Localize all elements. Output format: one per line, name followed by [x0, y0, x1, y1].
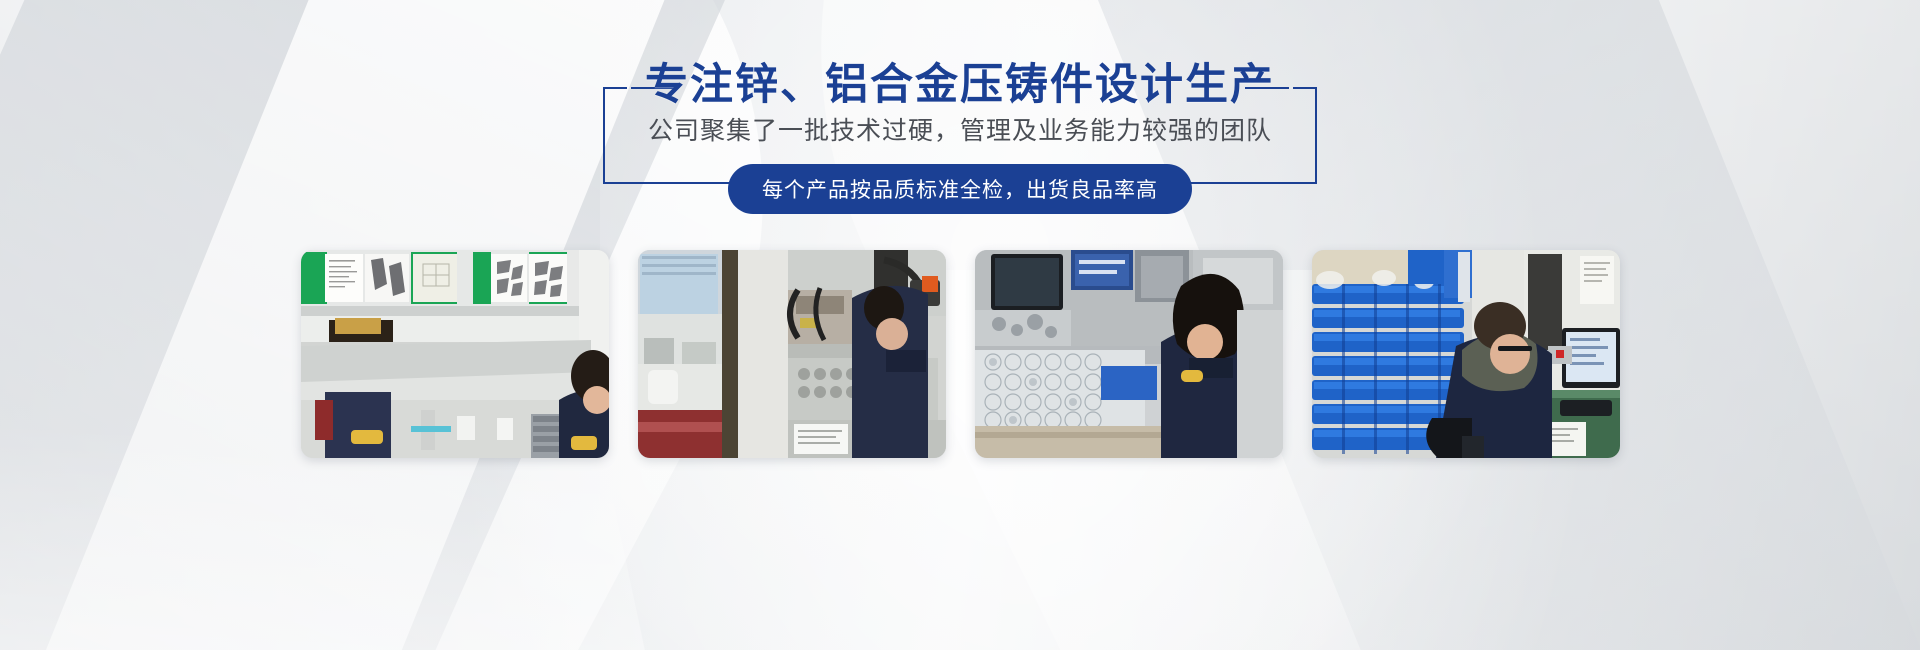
promo-banner: 专注锌、铝合金压铸件设计生产 公司聚集了一批技术过硬，管理及业务能力较强的团队 …: [0, 0, 1920, 650]
photo-workbench-inspection-image: [301, 250, 609, 458]
quality-badge: 每个产品按品质标准全检，出货良品率高: [728, 164, 1192, 214]
banner-subtitle: 公司聚集了一批技术过硬，管理及业务能力较强的团队: [648, 111, 1272, 147]
headline-group: 专注锌、铝合金压铸件设计生产 公司聚集了一批技术过硬，管理及业务能力较强的团队 …: [0, 54, 1920, 184]
photo-strip: [0, 250, 1920, 458]
photo-workbench-inspection: [301, 250, 609, 458]
bracket-left-edge: [603, 87, 605, 184]
photo-die-casting-machine: [638, 250, 946, 458]
photo-die-casting-machine-image: [638, 250, 946, 458]
photo-quality-check-desk-image: [975, 250, 1283, 458]
photo-quality-check-desk: [975, 250, 1283, 458]
photo-warehouse-office-image: [1312, 250, 1620, 458]
photo-warehouse-office: [1312, 250, 1620, 458]
bracket-right-edge: [1315, 87, 1317, 184]
banner-headline: 专注锌、铝合金压铸件设计生产: [645, 50, 1275, 112]
bracket-right-top-stub: [1293, 87, 1317, 89]
bracket-left-top-stub: [603, 87, 627, 89]
